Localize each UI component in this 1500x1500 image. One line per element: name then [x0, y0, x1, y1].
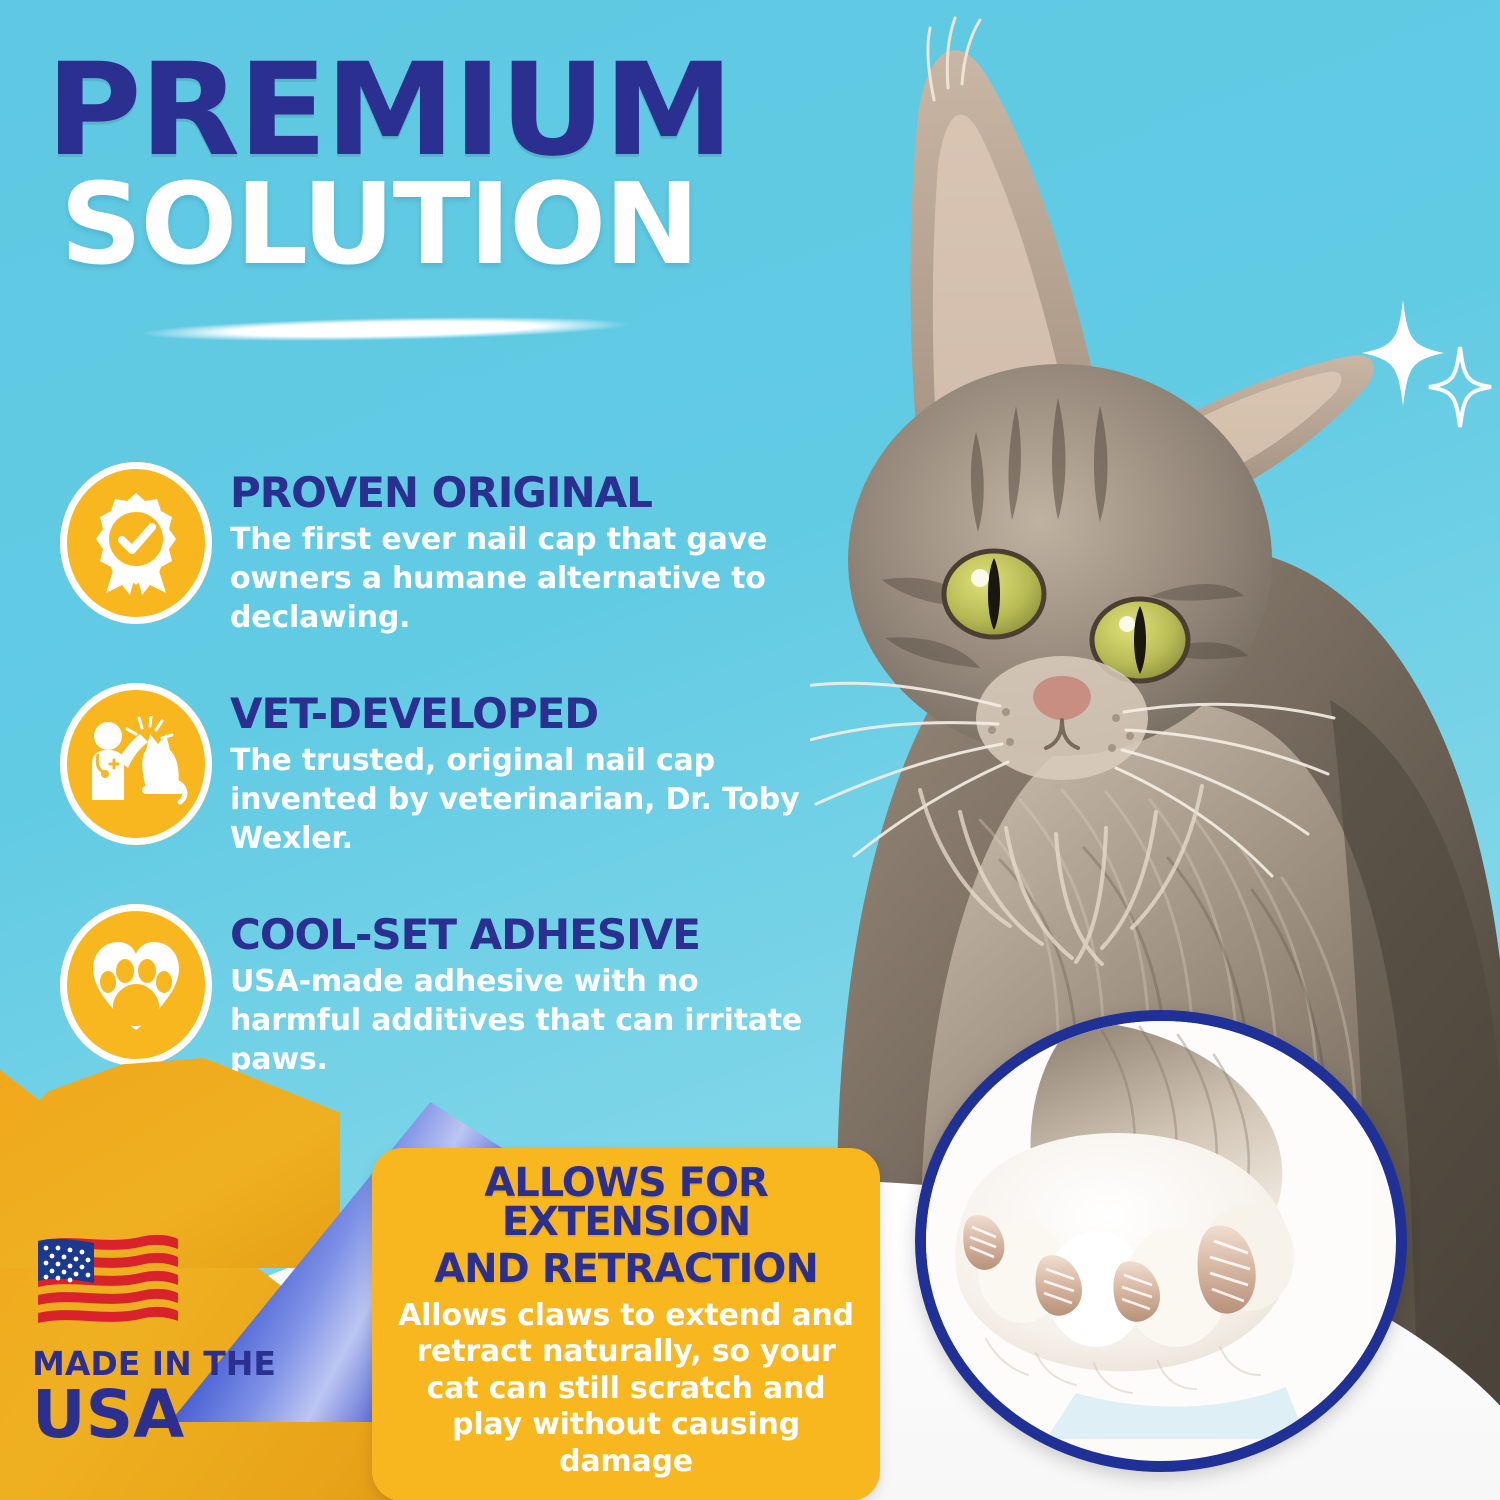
feature-title: COOL-SET ADHESIVE: [230, 914, 830, 956]
feature-body: USA-made adhesive with no harmful additi…: [230, 962, 830, 1079]
feature-list: PROVEN ORIGINAL The first ever nail cap …: [60, 462, 860, 1125]
feature-body: The first ever nail cap that gave owners…: [230, 520, 830, 637]
feature-item-proven-original: PROVEN ORIGINAL The first ever nail cap …: [60, 462, 860, 637]
made-in-usa-badge: MADE IN THE USA: [32, 1229, 332, 1448]
callout-title-line2: AND RETRACTION: [390, 1250, 862, 1289]
lens-divider: [140, 313, 630, 344]
extension-retraction-callout: ALLOWS FOR EXTENSION AND RETRACTION Allo…: [372, 1148, 880, 1500]
feature-item-cool-set-adhesive: COOL-SET ADHESIVE USA-made adhesive with…: [60, 904, 860, 1079]
headline-block: PREMIUM SOLUTION: [46, 52, 866, 277]
usa-flag-icon: [32, 1229, 182, 1325]
feature-item-vet-developed: VET-DEVELOPED The trusted, original nail…: [60, 683, 860, 858]
callout-title-line1: ALLOWS FOR EXTENSION: [390, 1164, 862, 1242]
feature-title: PROVEN ORIGINAL: [230, 472, 830, 514]
made-in-usa-line2: USA: [32, 1382, 332, 1448]
headline-solution: SOLUTION: [60, 174, 882, 277]
sparkle-star-outline: [1426, 344, 1494, 430]
heart-paw-print-icon: [60, 904, 212, 1066]
feature-body: The trusted, original nail cap invented …: [230, 741, 830, 858]
feature-title: VET-DEVELOPED: [230, 693, 830, 735]
callout-body: Allows claws to extend and retract natur…: [390, 1298, 862, 1481]
veterinarian-cat-highfive-icon: [60, 683, 212, 845]
headline-premium: PREMIUM: [46, 52, 882, 170]
award-ribbon-check-icon: [60, 462, 212, 624]
cat-paw-closeup-inset: [915, 1010, 1407, 1472]
product-infographic: PREMIUM SOLUTION PROVEN ORIGINAL The fir…: [0, 0, 1500, 1500]
